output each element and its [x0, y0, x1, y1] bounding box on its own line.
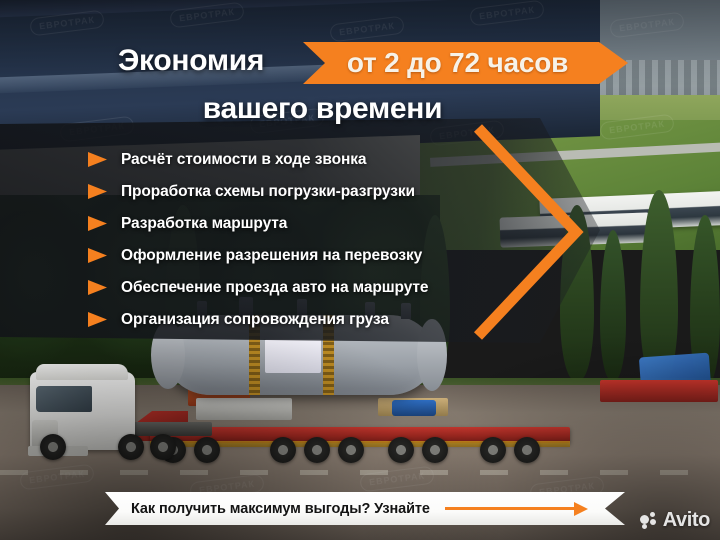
benefit-label: Расчёт стоимости в ходе звонка	[121, 151, 366, 169]
avito-label: Avito	[663, 509, 710, 532]
truck-wheel	[118, 434, 144, 460]
headline-line2-row: вашего времени	[0, 92, 720, 126]
trailer-wheel	[304, 437, 330, 463]
blue-crate	[392, 400, 436, 416]
avito-watermark: Avito	[640, 509, 710, 532]
headline-ribbon: от 2 до 72 часов	[303, 42, 628, 84]
truck-wheel	[40, 434, 66, 460]
cta-label: Как получить максимум выгоды? Узнайте	[131, 501, 430, 517]
benefit-item: Оформление разрешения на перевозку	[88, 240, 558, 271]
benefit-item: Обеспечение проезда авто на маршруте	[88, 272, 558, 303]
avito-dots-icon	[640, 512, 658, 530]
benefit-item: Расчёт стоимости в ходе звонка	[88, 144, 558, 175]
triangle-right-icon	[88, 184, 107, 199]
benefit-label: Обеспечение проезда авто на маршруте	[121, 279, 428, 297]
rear-dolly	[600, 380, 718, 402]
trailer-wheel	[338, 437, 364, 463]
trailer-wheel	[480, 437, 506, 463]
ribbon-label: от 2 до 72 часов	[347, 47, 584, 79]
arrow-right-icon	[445, 507, 575, 510]
triangle-right-icon	[88, 312, 107, 327]
benefit-label: Оформление разрешения на перевозку	[121, 247, 422, 265]
trailer-wheel	[422, 437, 448, 463]
trailer-wheel	[194, 437, 220, 463]
benefits-list: Расчёт стоимости в ходе звонка Проработк…	[88, 144, 558, 336]
benefit-item: Разработка маршрута	[88, 208, 558, 239]
triangle-right-icon	[88, 248, 107, 263]
trailer-wheel	[388, 437, 414, 463]
grey-crate	[196, 398, 292, 420]
benefit-label: Разработка маршрута	[121, 215, 287, 233]
cab-roof	[36, 364, 128, 380]
cab-windshield	[36, 386, 92, 412]
cypress-tree	[600, 230, 626, 380]
benefit-label: Проработка схемы погрузки-разгрузки	[121, 183, 415, 201]
trailer-wheel	[514, 437, 540, 463]
headline-block: Экономия от 2 до 72 часов вашего времени	[0, 18, 720, 114]
cta-banner[interactable]: Как получить максимум выгоды? Узнайте	[105, 492, 625, 525]
benefit-item: Проработка схемы погрузки-разгрузки	[88, 176, 558, 207]
banner-stage: ЕВРОТРАК ЕВРОТРАК ЕВРОТРАК ЕВРОТРАК ЕВРО…	[0, 0, 720, 540]
triangle-right-icon	[88, 216, 107, 231]
headline-prefix: Экономия	[118, 46, 264, 76]
truck-wheel	[150, 434, 176, 460]
triangle-right-icon	[88, 152, 107, 167]
triangle-right-icon	[88, 280, 107, 295]
benefit-item: Организация сопровождения груза	[88, 304, 558, 335]
benefit-label: Организация сопровождения груза	[121, 311, 389, 329]
vessel-label-plate	[265, 339, 321, 373]
trailer-wheel	[270, 437, 296, 463]
headline-line2: вашего времени	[203, 92, 442, 125]
truck-tractor	[8, 360, 188, 485]
